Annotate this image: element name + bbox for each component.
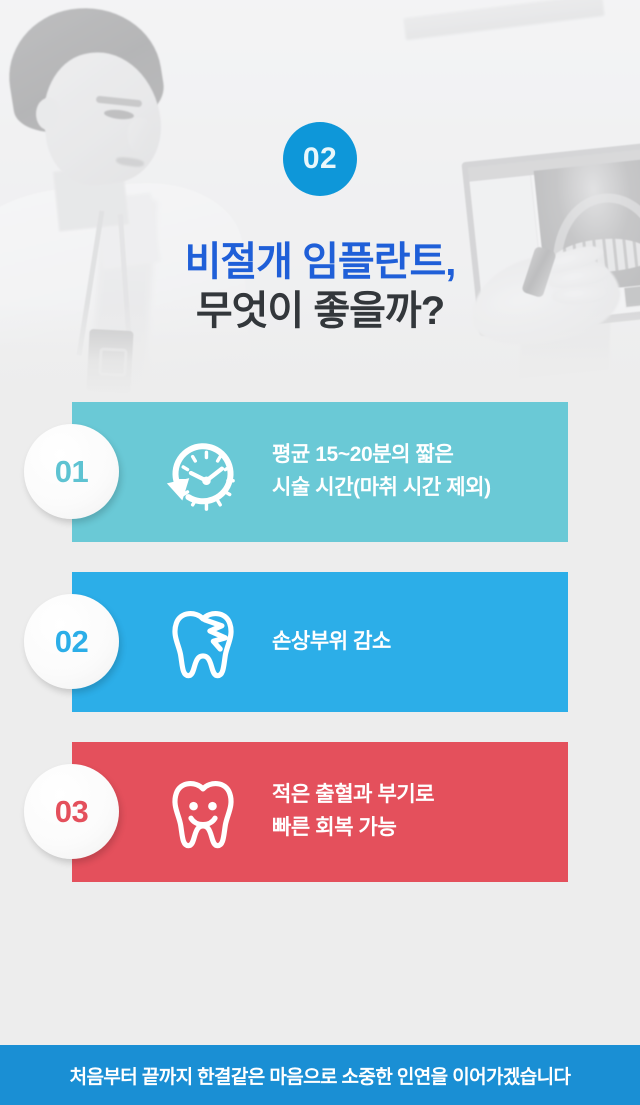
smiling-tooth-icon [160, 770, 246, 856]
hero-photo-banner [0, 0, 640, 398]
benefit-number-label: 02 [55, 624, 88, 660]
benefit-card: 01 [72, 402, 568, 542]
benefit-text: 손상부위 감소 [272, 572, 391, 712]
step-number-label: 02 [303, 142, 337, 176]
benefit-number-label: 01 [55, 454, 88, 490]
benefit-number-badge: 03 [24, 764, 119, 859]
infographic-page: 02 비절개 임플란트, 무엇이 좋을까? 01 [0, 0, 640, 1105]
step-number-badge: 02 [283, 122, 357, 196]
chipped-tooth-icon [160, 600, 246, 686]
benefit-text-line-1: 적은 출혈과 부기로 [272, 779, 434, 812]
benefit-number-label: 03 [55, 794, 88, 830]
title-line-1: 비절개 임플란트, [0, 238, 640, 287]
footer-banner: 처음부터 끝까지 한결같은 마음으로 소중한 인연을 이어가겠습니다 [0, 1045, 640, 1105]
benefit-text-line-1: 평균 15~20분의 짧은 [272, 439, 491, 472]
benefit-card: 02 손상부위 감소 [72, 572, 568, 712]
benefit-text-line-2: 시술 시간(마취 시간 제외) [272, 472, 491, 505]
benefit-text-line-2: 빠른 회복 가능 [272, 812, 434, 845]
page-title: 비절개 임플란트, 무엇이 좋을까? [0, 238, 640, 336]
benefit-number-badge: 01 [24, 424, 119, 519]
benefit-card: 03 적은 출혈과 부기로 빠른 회복 가능 [72, 742, 568, 882]
benefit-text: 평균 15~20분의 짧은 시술 시간(마취 시간 제외) [272, 402, 491, 542]
title-line-2: 무엇이 좋을까? [0, 287, 640, 336]
benefit-text-line-1: 손상부위 감소 [272, 626, 391, 659]
benefit-number-badge: 02 [24, 594, 119, 689]
benefit-text: 적은 출혈과 부기로 빠른 회복 가능 [272, 742, 434, 882]
footer-slogan: 처음부터 끝까지 한결같은 마음으로 소중한 인연을 이어가겠습니다 [70, 1062, 571, 1089]
clock-rotate-icon [160, 430, 246, 516]
